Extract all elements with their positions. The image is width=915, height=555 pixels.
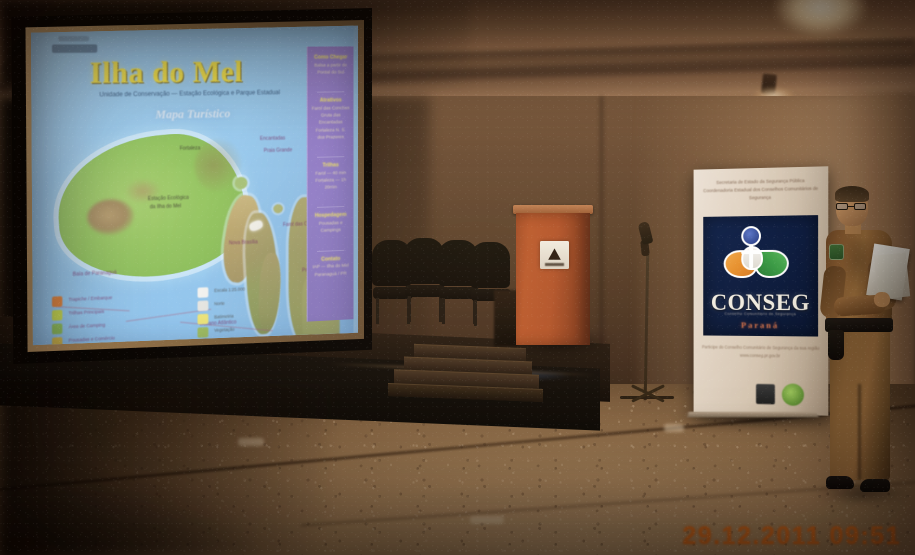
projected-slide: Ilha do Mel Unidade de Conservação — Est… [27,23,354,349]
map-legend-swatch-icon [52,323,62,334]
emblem-glyph [547,248,562,263]
state-coat-of-arms-icon [540,241,569,269]
lectern-body [516,213,590,345]
photograph-scene: Secretaria de Estado da Segurança Públic… [0,0,915,555]
floor-shadow-corner [0,470,260,555]
banner-footer: Participe do Conselho Comunitário de Seg… [701,343,820,360]
map-legend-secondary-label: Vegetação [214,327,234,333]
conseg-tagline: Conselho Comunitário de Segurança [705,312,816,317]
chair-leg [408,296,411,322]
person-leg-seam [858,384,861,480]
map-label: Nova Brasília [229,239,258,247]
conseg-logo-icon [724,226,797,289]
map-legend-secondary-label: Batimetria [214,313,233,319]
slide-title: Ilha do Mel [27,55,301,92]
map-legend-secondary-rows: Escala 1:25.000NorteBatimetriaVegetação [198,283,270,340]
conseg-rollup-banner: Secretaria de Estado da Segurança Públic… [694,166,829,415]
eyeglass-lens-right [854,203,866,210]
map-label: Encantadas [260,135,285,142]
eyeglasses-icon [836,203,868,210]
map-label: Estação Ecológica [148,195,189,203]
map-legend-rows: Trapiche / EmbarqueTrilhas PrincipaisÁre… [52,289,184,349]
slide-sidebar-divider [317,92,344,93]
tripod-leg [620,396,674,399]
slide-sidebar-divider [317,249,344,251]
map-legend-secondary-swatch-icon [198,327,209,338]
slide-sidebar-line: Paranaguá / PR [311,270,349,279]
map-label: Praia Grande [264,147,292,154]
banner-navy-panel: CONSEG Conselho Comunitário de Segurança… [703,215,818,336]
map-legend-label: Área de Camping [69,322,106,329]
green-circle-emblem-icon [782,383,804,406]
slide-sidebar-divider [317,156,344,158]
person-shoe-left [826,476,854,489]
map-legend-secondary-label: Escala 1:25.000 [214,286,245,293]
microphone-tripod-base [620,392,674,405]
map-legend: Trapiche / EmbarqueTrilhas PrincipaisÁre… [52,289,184,349]
slide-sidebar-block: ContatoIAP — Ilha do MelParanaguá / PR [311,255,349,279]
map-legend-label: Trapiche / Embarque [69,295,113,302]
map-legend-secondary-swatch-icon [198,287,209,298]
banner-header: Secretaria de Estado da Segurança Públic… [701,177,820,203]
slide-sidebar-line: Fortaleza — 1h 20min [311,177,349,193]
map-legend-secondary: Escala 1:25.000NorteBatimetriaVegetação [198,283,270,340]
floor-marker [470,516,504,524]
map-legend-secondary-swatch-icon [198,314,209,325]
slide-sidebar-line: Pousadas e Campings [311,220,349,236]
map-legend-secondary-swatch-icon [198,300,209,311]
slide-info-sidebar: Como ChegarBalsa a partir dePontal do Su… [307,46,354,321]
slide-subtitle-secondary: Mapa Turístico [103,105,280,123]
eyeglass-bridge [848,206,854,207]
person-hand [874,292,890,307]
slide-sidebar-line: Pontal do Sul [311,69,349,77]
map-legend-swatch-icon [52,296,62,307]
chair-back [470,242,510,288]
map-legend-label: Trilhas Principais [69,309,105,316]
holster-icon [828,330,844,360]
banner-footer-line-2: www.conseg.pr.gov.br [701,351,820,361]
banner-sponsor-logos [756,382,814,407]
person-hair [835,186,869,202]
slide-sidebar-block: TrilhasFarol — 40 minFortaleza — 1h 20mi… [311,162,349,192]
chair-leg [474,300,477,326]
map-legend-swatch-icon [52,310,62,321]
slide-sidebar-blocks: Como ChegarBalsa a partir dePontal do Su… [311,54,349,279]
eyeglass-lens-left [836,203,848,210]
emblem-caption [545,263,564,266]
chair-leg [442,298,445,324]
map-label: da Ilha do Mel [150,203,181,211]
government-seal-icon [756,384,775,404]
chair-leg [376,298,379,324]
map-legend-label: Pousadas e Comércio [69,335,115,343]
screen-canvas: Ilha do Mel Unidade de Conservação — Est… [27,23,358,349]
conseg-state-name: Paraná [705,320,816,331]
banner-base-stand [687,412,818,418]
map-legend-secondary-label: Norte [214,301,225,307]
slide-sidebar-line: Fortaleza N. S. dos Prazeres [311,127,349,142]
projection-screen: Ilha do Mel Unidade de Conservação — Est… [6,8,372,364]
slide-sidebar-divider [317,206,344,208]
slide-sidebar-line: Gruta das Encantadas [311,112,349,127]
slide-sidebar-block: HospedagemPousadas e Campings [311,212,349,236]
banner-header-line-2: Coordenadoria Estadual dos Conselhos Com… [701,184,820,202]
military-police-officer [812,188,912,510]
slide-sidebar-block: Como ChegarBalsa a partir dePontal do Su… [311,54,349,76]
logo-mark-bottom [52,44,97,53]
conseg-globe-icon [741,226,761,246]
orange-lectern [516,205,590,348]
slide-sidebar-block: AtrativosFarol das ConchasGruta das Enca… [311,97,349,141]
map-label: Fortaleza [180,145,201,152]
person-shoe-right [860,479,890,492]
shoulder-patch-icon [829,244,844,260]
conseg-cross-horizontal-icon [741,250,761,254]
camera-timestamp: 29.12.2011 09:51 [682,522,901,551]
logo-mark-top [58,36,89,41]
